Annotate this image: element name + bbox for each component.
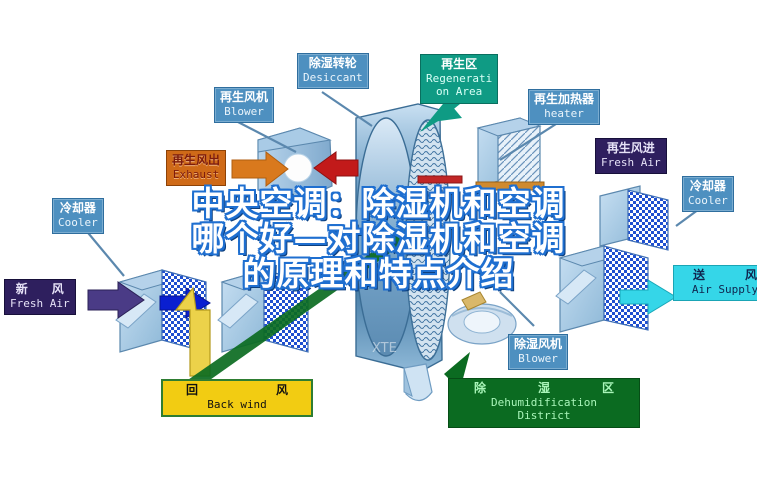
cooler-right-unit — [600, 186, 668, 250]
label-cooler-left-cn: 冷却器 — [58, 202, 98, 216]
dehumidification-fan-wheel — [448, 292, 516, 344]
process-air-intake — [116, 270, 308, 352]
label-back-wind-en: Back wind — [168, 399, 306, 412]
label-regeneration-air-inlet-en: Fresh Air — [601, 157, 661, 170]
label-dehumidification-blower-en: Blower — [514, 353, 562, 366]
label-cooler-right-cn: 冷却器 — [688, 180, 728, 194]
label-cooler-left[interactable]: 冷却器 Cooler — [52, 198, 104, 234]
label-dehumidification-district[interactable]: 除 湿 区 Dehumidification District — [448, 378, 640, 428]
rotor-faint-mark: XTE — [372, 341, 397, 356]
label-fresh-air-inlet[interactable]: 新 风 Fresh Air — [4, 279, 76, 315]
label-desiccant-rotor-cn: 除湿转轮 — [303, 57, 363, 71]
lower-duct-piece — [404, 364, 432, 401]
label-regeneration-heater-en: heater — [534, 108, 594, 121]
label-back-wind[interactable]: 回 风 Back wind — [161, 379, 313, 417]
label-regeneration-air-inlet[interactable]: 再生风进 Fresh Air — [595, 138, 667, 174]
machinery-artwork: XTE — [0, 0, 757, 488]
regeneration-blower-unit — [232, 128, 332, 200]
label-back-wind-cn: 回 风 — [168, 384, 306, 398]
label-regeneration-blower-cn: 再生风机 — [220, 91, 268, 105]
label-regeneration-heater[interactable]: 再生加热器 heater — [528, 89, 600, 125]
label-regeneration-exhaust[interactable]: 再生风出 Exhaust — [166, 150, 226, 186]
label-air-supply[interactable]: 送 风 Air Supply — [673, 265, 757, 301]
label-cooler-right-en: Cooler — [688, 195, 728, 208]
label-desiccant-rotor[interactable]: 除湿转轮 Desiccant — [297, 53, 369, 89]
label-regeneration-exhaust-en: Exhaust — [172, 169, 220, 182]
label-regeneration-heater-cn: 再生加热器 — [534, 93, 594, 107]
label-fresh-air-inlet-cn: 新 风 — [10, 283, 70, 297]
label-air-supply-en: Air Supply — [679, 284, 757, 297]
label-regeneration-area-cn: 再生区 — [426, 58, 492, 72]
label-regeneration-exhaust-cn: 再生风出 — [172, 154, 220, 168]
label-desiccant-rotor-en: Desiccant — [303, 72, 363, 85]
label-regeneration-blower-en: Blower — [220, 106, 268, 119]
label-dehumidification-blower[interactable]: 除湿风机 Blower — [508, 334, 568, 370]
label-regeneration-area-en-line1: Regenerati — [426, 73, 492, 86]
label-fresh-air-inlet-en: Fresh Air — [10, 298, 70, 311]
label-regeneration-blower[interactable]: 再生风机 Blower — [214, 87, 274, 123]
label-dehumidification-district-en-line2: District — [454, 410, 634, 423]
label-cooler-right[interactable]: 冷却器 Cooler — [682, 176, 734, 212]
label-regeneration-area-en-line2: on Area — [426, 86, 492, 99]
label-dehumidification-district-cn: 除 湿 区 — [454, 382, 634, 396]
diagram-canvas: XTE — [0, 0, 757, 488]
label-air-supply-cn: 送 风 — [679, 269, 757, 283]
label-cooler-left-en: Cooler — [58, 217, 98, 230]
supply-duct-unit — [556, 246, 648, 332]
label-dehumidification-blower-cn: 除湿风机 — [514, 338, 562, 352]
label-regeneration-area[interactable]: 再生区 Regenerati on Area — [420, 54, 498, 104]
label-dehumidification-district-en-line1: Dehumidification — [454, 397, 634, 410]
label-regeneration-air-inlet-cn: 再生风进 — [601, 142, 661, 156]
